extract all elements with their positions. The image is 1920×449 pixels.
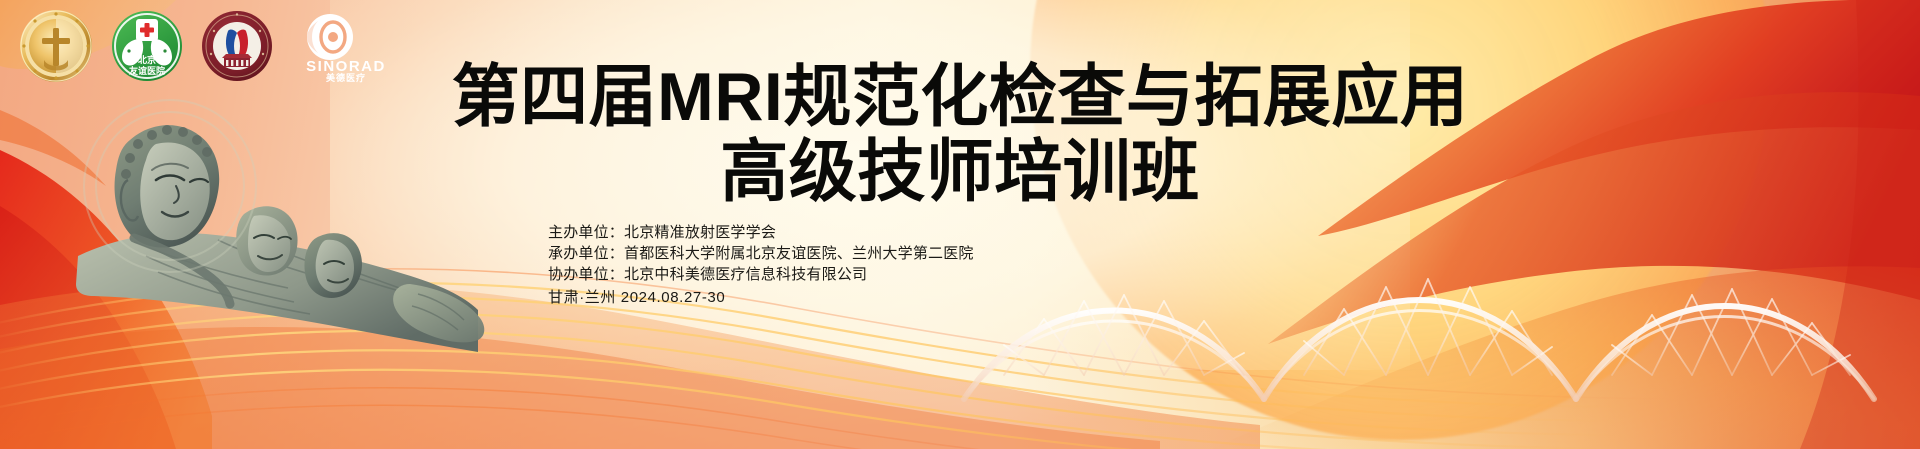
host-label: 承办单位： bbox=[548, 245, 624, 262]
co-organizer-label: 协办单位： bbox=[548, 266, 624, 283]
co-organizer-row: 协办单位：北京中科美德医疗信息科技有限公司 bbox=[548, 264, 974, 285]
organizer-row: 主办单位：北京精准放射医学学会 bbox=[548, 222, 974, 243]
organization-logo-bar: 北京 友谊医院 bbox=[18, 8, 402, 84]
host-value: 首都医科大学附属北京友谊医院、兰州大学第二医院 bbox=[624, 245, 974, 262]
svg-text:北京: 北京 bbox=[138, 54, 156, 65]
lanzhou-university-second-hospital-logo bbox=[200, 9, 274, 83]
conference-banner: 北京 友谊医院 bbox=[0, 0, 1920, 449]
venue-and-date: 甘肃·兰州 2024.08.27-30 bbox=[548, 287, 974, 308]
buddha-statue-illustration bbox=[38, 88, 508, 388]
beijing-friendship-hospital-logo: 北京 友谊医院 bbox=[110, 9, 184, 83]
zhongshan-bridge-illustration bbox=[894, 149, 1914, 449]
organizer-value: 北京精准放射医学学会 bbox=[624, 224, 776, 241]
host-row: 承办单位：首都医科大学附属北京友谊医院、兰州大学第二医院 bbox=[548, 243, 974, 264]
sinorad-chinese-wordmark: 美德医疗 bbox=[326, 72, 366, 83]
sinorad-logo: SINORAD 美德医疗 bbox=[290, 9, 402, 83]
co-organizer-value: 北京中科美德医疗信息科技有限公司 bbox=[624, 266, 867, 283]
event-details: 主办单位：北京精准放射医学学会 承办单位：首都医科大学附属北京友谊医院、兰州大学… bbox=[548, 222, 974, 308]
organizer-label: 主办单位： bbox=[548, 224, 624, 241]
beijing-precision-radiology-society-logo bbox=[18, 8, 94, 84]
svg-text:友谊医院: 友谊医院 bbox=[129, 65, 165, 76]
